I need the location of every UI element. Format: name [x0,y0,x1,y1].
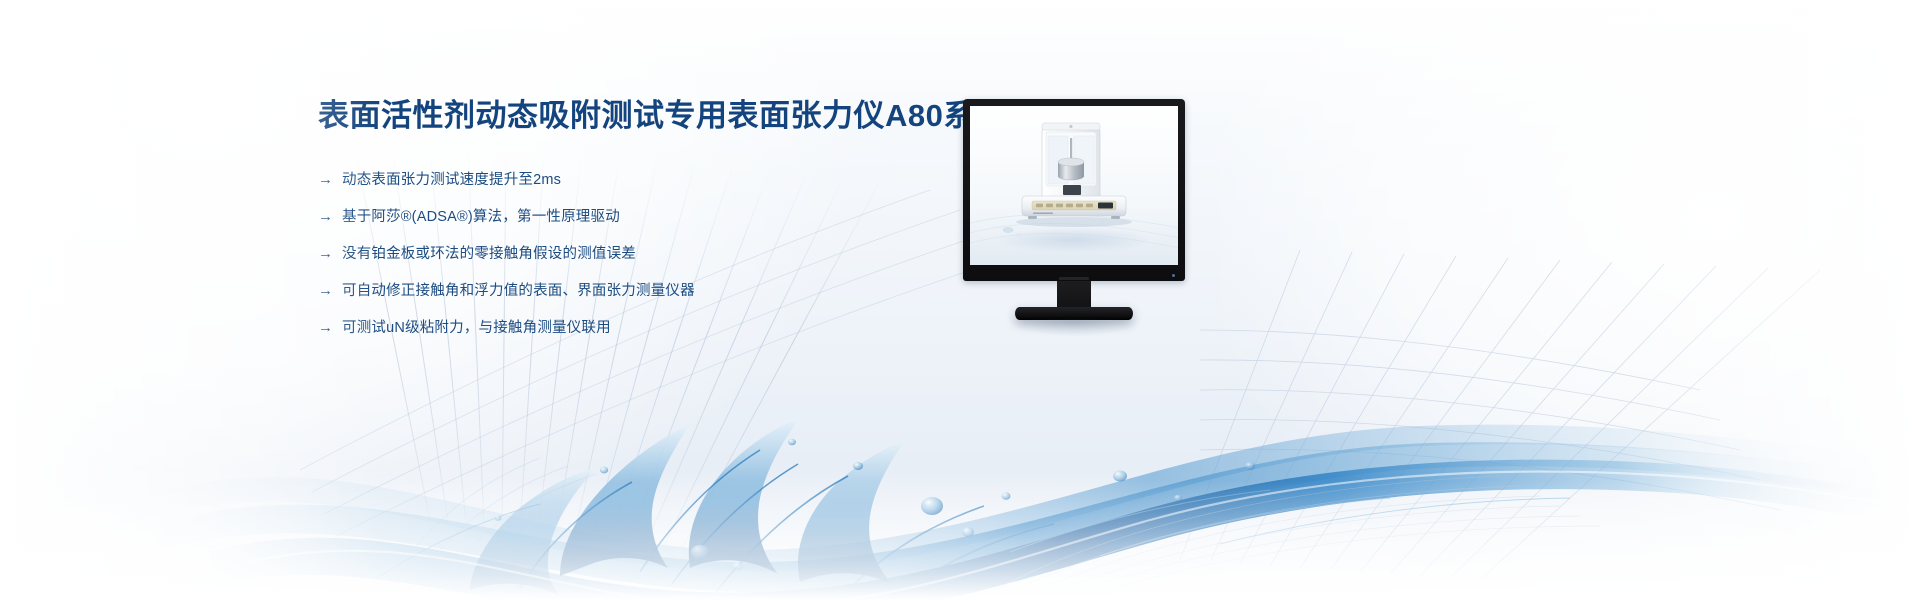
hero-banner: 表面活性剂动态吸附测试专用表面张力仪A80系列 → 动态表面张力测试速度提升至2… [0,0,1920,600]
arrow-icon: → [318,170,333,190]
banner-copy: 表面活性剂动态吸附测试专用表面张力仪A80系列 → 动态表面张力测试速度提升至2… [318,96,1018,355]
feature-text: 可自动修正接触角和浮力值的表面、界面张力测量仪器 [342,281,695,301]
arrow-icon: → [318,244,333,264]
list-item: → 可测试uN级粘附力，与接触角测量仪联用 [318,318,1018,338]
background-glow-right [1220,0,1920,600]
feature-text: 可测试uN级粘附力，与接触角测量仪联用 [342,318,611,338]
list-item: → 动态表面张力测试速度提升至2ms [318,170,1018,190]
instrument-illustration [970,106,1178,265]
arrow-icon: → [318,207,333,227]
monitor-stand-base [1015,307,1133,320]
feature-text: 基于阿莎®(ADSA®)算法，第一性原理驱动 [342,207,620,227]
monitor-bezel [963,99,1185,281]
arrow-icon: → [318,318,333,338]
bottom-fade-overlay [0,480,1920,600]
feature-text: 动态表面张力测试速度提升至2ms [342,170,561,190]
right-fade-overlay [1620,0,1920,600]
feature-list: → 动态表面张力测试速度提升至2ms → 基于阿莎®(ADSA®)算法，第一性原… [318,170,1018,338]
list-item: → 可自动修正接触角和浮力值的表面、界面张力测量仪器 [318,281,1018,301]
arrow-icon: → [318,281,333,301]
list-item: → 没有铂金板或环法的零接触角假设的测值误差 [318,244,1018,264]
monitor-screen [970,106,1178,265]
feature-text: 没有铂金板或环法的零接触角假设的测值误差 [342,244,636,264]
monitor-reflection [1009,320,1139,336]
product-monitor [963,99,1185,321]
list-item: → 基于阿莎®(ADSA®)算法，第一性原理驱动 [318,207,1018,227]
monitor-brand-mark [1059,277,1089,280]
monitor-power-led-icon [1172,274,1175,277]
page-title: 表面活性剂动态吸附测试专用表面张力仪A80系列 [318,96,1018,136]
